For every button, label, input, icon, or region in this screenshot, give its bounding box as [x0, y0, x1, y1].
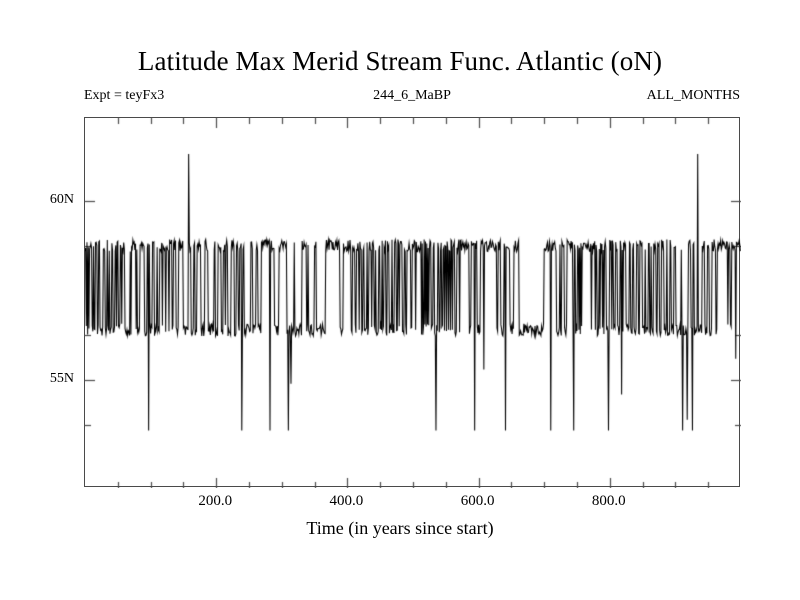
x-tick-label: 600.0: [461, 493, 495, 510]
run-id-label: 244_6_MaBP: [84, 88, 740, 104]
months-label: ALL_MONTHS: [647, 88, 740, 104]
page-title: Latitude Max Merid Stream Func. Atlantic…: [0, 46, 800, 76]
y-tick-label: 60N: [50, 192, 74, 208]
plot-frame: [84, 117, 740, 487]
chart-plot-area: [85, 118, 741, 488]
x-axis-tick-labels: 200.0400.0600.0800.0: [84, 493, 740, 515]
x-tick-label: 200.0: [198, 493, 232, 510]
y-axis-tick-labels: 60N55N: [0, 117, 74, 487]
plot-page: Latitude Max Merid Stream Func. Atlantic…: [0, 0, 800, 600]
x-tick-label: 800.0: [592, 493, 626, 510]
x-axis-title: Time (in years since start): [0, 518, 800, 539]
x-tick-label: 400.0: [330, 493, 364, 510]
subtitle-row: Expt = teyFx3 244_6_MaBP ALL_MONTHS: [84, 88, 740, 108]
y-tick-label: 55N: [50, 371, 74, 387]
